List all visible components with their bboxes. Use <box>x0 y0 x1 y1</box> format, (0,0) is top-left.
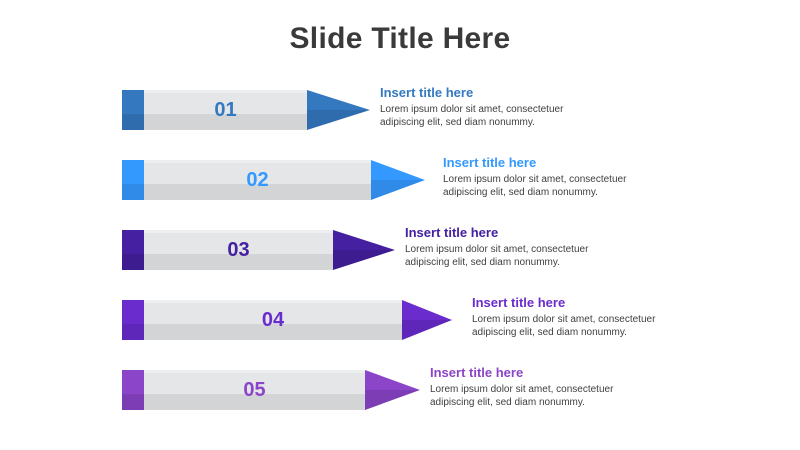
step-title: Insert title here <box>380 84 580 101</box>
step-text-block: Insert title hereLorem ipsum dolor sit a… <box>405 224 605 269</box>
arrow-shape[interactable] <box>122 160 427 200</box>
arrow-shape[interactable] <box>122 370 422 410</box>
arrow-row-list: 01Insert title hereLorem ipsum dolor sit… <box>0 84 800 434</box>
arrow-row: 03Insert title hereLorem ipsum dolor sit… <box>0 224 800 294</box>
step-title: Insert title here <box>405 224 605 241</box>
arrow-row: 02Insert title hereLorem ipsum dolor sit… <box>0 154 800 224</box>
arrow-row: 05Insert title hereLorem ipsum dolor sit… <box>0 364 800 434</box>
step-description: Lorem ipsum dolor sit amet, consectetuer… <box>472 313 672 339</box>
step-text-block: Insert title hereLorem ipsum dolor sit a… <box>430 364 630 409</box>
arrow-shape[interactable] <box>122 300 454 340</box>
step-text-block: Insert title hereLorem ipsum dolor sit a… <box>380 84 580 129</box>
page-title: Slide Title Here <box>0 22 800 56</box>
step-title: Insert title here <box>472 294 672 311</box>
arrow-row: 04Insert title hereLorem ipsum dolor sit… <box>0 294 800 364</box>
step-description: Lorem ipsum dolor sit amet, consectetuer… <box>380 103 580 129</box>
step-title: Insert title here <box>430 364 630 381</box>
step-title: Insert title here <box>443 154 643 171</box>
arrow-row: 01Insert title hereLorem ipsum dolor sit… <box>0 84 800 154</box>
step-description: Lorem ipsum dolor sit amet, consectetuer… <box>430 383 630 409</box>
step-text-block: Insert title hereLorem ipsum dolor sit a… <box>443 154 643 199</box>
arrow-shape[interactable] <box>122 90 372 130</box>
slide-canvas: Slide Title Here 01Insert title hereLore… <box>0 0 800 450</box>
step-description: Lorem ipsum dolor sit amet, consectetuer… <box>405 243 605 269</box>
arrow-shape[interactable] <box>122 230 397 270</box>
step-description: Lorem ipsum dolor sit amet, consectetuer… <box>443 173 643 199</box>
step-text-block: Insert title hereLorem ipsum dolor sit a… <box>472 294 672 339</box>
